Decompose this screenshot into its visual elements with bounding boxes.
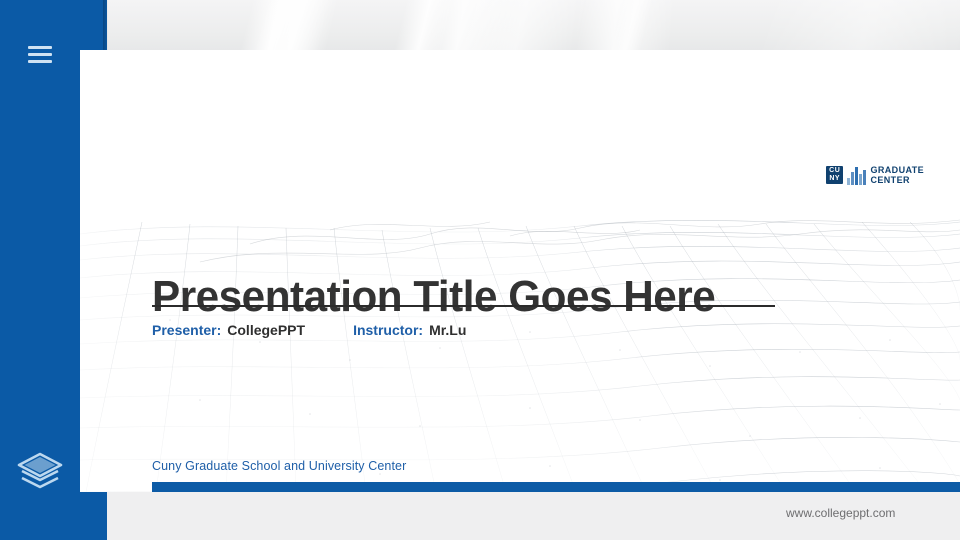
instructor-value: Mr.Lu <box>429 322 466 338</box>
slide-footer-text: Cuny Graduate School and University Cent… <box>152 459 406 473</box>
ribbon-streak <box>234 0 345 50</box>
cuny-mark-line1: CU <box>829 167 840 175</box>
site-url: www.collegeppt.com <box>786 506 895 520</box>
menu-line <box>28 60 52 63</box>
presenter-value: CollegePPT <box>227 322 305 338</box>
sidebar-edge-shadow <box>103 0 108 52</box>
cuny-mark-icon: CU NY <box>826 166 843 184</box>
layers-stack-icon[interactable] <box>14 445 66 497</box>
ribbon-streak <box>589 0 662 50</box>
top-decorative-band <box>0 0 960 50</box>
ribbon-streak <box>374 0 462 50</box>
logo-text-line2: CENTER <box>870 175 924 185</box>
slide-footer-bar <box>152 482 960 492</box>
presenter-instructor-line: Presenter: CollegePPT Instructor: Mr.Lu <box>152 322 466 338</box>
logo-text-line1: GRADUATE <box>870 165 924 175</box>
wireframe-landscape-decoration <box>80 200 960 492</box>
menu-line <box>28 53 52 56</box>
hamburger-menu-icon[interactable] <box>28 46 52 64</box>
title-divider <box>152 305 775 307</box>
graduate-center-wordmark: GRADUATE CENTER <box>870 165 924 185</box>
cuny-graduate-center-logo: CU NY GRADUATE CENTER <box>826 162 924 188</box>
instructor-label: Instructor: <box>353 322 423 338</box>
presenter-label: Presenter: <box>152 322 221 338</box>
slide-canvas: CU NY GRADUATE CENTER Presentation Title… <box>80 50 960 492</box>
page-title: Presentation Title Goes Here <box>152 272 824 322</box>
cuny-mark-line2: NY <box>829 175 840 183</box>
menu-line <box>28 46 52 49</box>
app-root: CU NY GRADUATE CENTER Presentation Title… <box>0 0 960 540</box>
ribbon-streak <box>435 0 595 50</box>
ribbon-streak <box>741 0 960 50</box>
building-bars-icon <box>847 166 866 185</box>
